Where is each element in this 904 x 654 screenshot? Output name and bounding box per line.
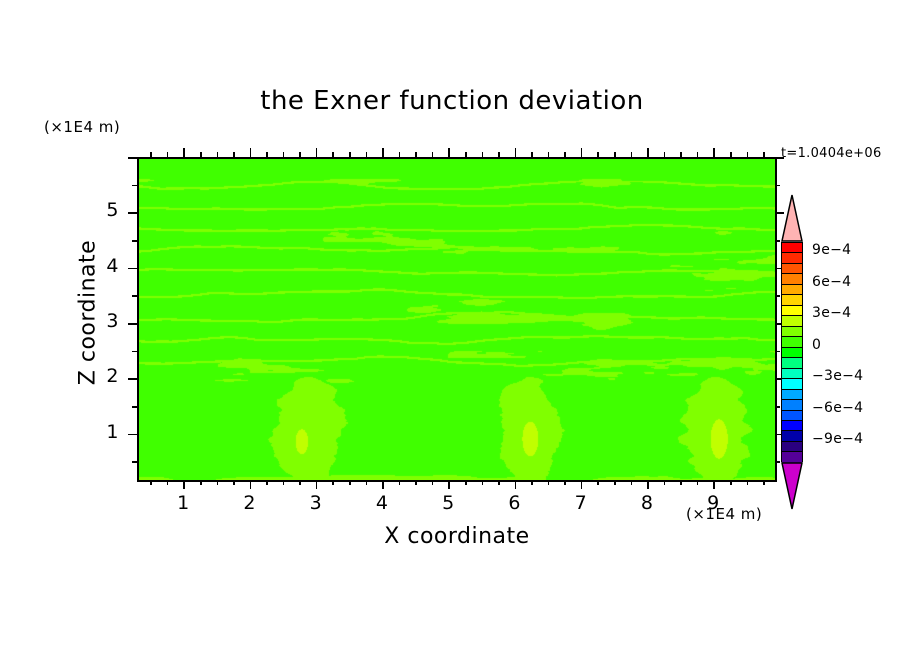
colorbar-tick-label: 3e−4 — [812, 305, 851, 321]
y-minor-tick-right — [775, 240, 780, 242]
x-tick-label: 6 — [495, 492, 535, 514]
y-major-tick — [128, 378, 137, 380]
colorbar-tick-label: 0 — [812, 337, 821, 353]
colorbar-band — [782, 274, 802, 284]
y-tick-label: 1 — [79, 421, 119, 443]
chart-title: the Exner function deviation — [0, 86, 904, 116]
colorbar-band — [782, 411, 802, 421]
x-major-tick-top — [713, 148, 715, 157]
x-minor-tick-top — [747, 152, 749, 157]
x-major-tick-top — [515, 148, 517, 157]
x-minor-tick-top — [432, 152, 434, 157]
y-axis-unit-label: (×1E4 m) — [44, 118, 120, 136]
x-minor-tick — [266, 480, 268, 485]
y-major-tick — [128, 212, 137, 214]
x-minor-tick — [548, 480, 550, 485]
x-major-tick — [316, 480, 318, 489]
x-minor-tick — [664, 480, 666, 485]
y-minor-tick-right — [775, 185, 780, 187]
x-axis-title: X coordinate — [237, 524, 677, 549]
y-minor-tick — [132, 406, 137, 408]
x-minor-tick-top — [200, 152, 202, 157]
colorbar-band — [782, 306, 802, 316]
y-minor-tick-right — [775, 295, 780, 297]
colorbar-band — [782, 264, 802, 274]
x-minor-tick — [200, 480, 202, 485]
x-minor-tick-top — [597, 152, 599, 157]
x-minor-tick — [167, 480, 169, 485]
colorbar-band — [782, 431, 802, 441]
colorbar-band — [782, 337, 802, 347]
contour-plot-area — [137, 157, 777, 482]
x-minor-tick-top — [631, 152, 633, 157]
x-minor-tick-top — [217, 152, 219, 157]
x-major-tick-top — [183, 148, 185, 157]
contour-field — [139, 159, 775, 480]
y-minor-tick-right — [775, 351, 780, 353]
x-minor-tick-top — [167, 152, 169, 157]
x-tick-label: 9 — [693, 492, 733, 514]
x-minor-tick-top — [498, 152, 500, 157]
colorbar-band — [782, 442, 802, 452]
x-minor-tick — [614, 480, 616, 485]
x-minor-tick-top — [664, 152, 666, 157]
x-minor-tick-top — [680, 152, 682, 157]
x-minor-tick-top — [415, 152, 417, 157]
x-minor-tick — [332, 480, 334, 485]
x-major-tick — [647, 480, 649, 489]
x-tick-label: 3 — [296, 492, 336, 514]
x-minor-tick — [283, 480, 285, 485]
x-major-tick-top — [647, 148, 649, 157]
timestamp-annotation: t=1.0404e+06 — [781, 146, 882, 161]
x-major-tick-top — [382, 148, 384, 157]
x-minor-tick-top — [299, 152, 301, 157]
x-tick-label: 4 — [362, 492, 402, 514]
x-tick-label: 8 — [627, 492, 667, 514]
colorbar-band — [782, 243, 802, 253]
x-major-tick — [250, 480, 252, 489]
x-minor-tick — [415, 480, 417, 485]
x-minor-tick — [747, 480, 749, 485]
y-tick-label: 5 — [79, 199, 119, 221]
y-tick-label: 3 — [79, 310, 119, 332]
x-minor-tick-top — [233, 152, 235, 157]
y-tick-label: 2 — [79, 365, 119, 387]
x-tick-label: 7 — [561, 492, 601, 514]
x-minor-tick-top — [730, 152, 732, 157]
x-minor-tick — [631, 480, 633, 485]
colorbar-tick-label: 9e−4 — [812, 242, 851, 258]
colorbar-band — [782, 295, 802, 305]
x-tick-label: 2 — [230, 492, 270, 514]
colorbar-tick-label: 6e−4 — [812, 274, 851, 290]
x-major-tick-top — [581, 148, 583, 157]
x-major-tick — [515, 480, 517, 489]
x-minor-tick-top — [266, 152, 268, 157]
x-minor-tick — [299, 480, 301, 485]
x-major-tick — [382, 480, 384, 489]
x-minor-tick — [763, 480, 765, 485]
x-tick-label: 1 — [163, 492, 203, 514]
x-major-tick — [713, 480, 715, 489]
y-minor-tick — [132, 185, 137, 187]
x-major-tick-top — [448, 148, 450, 157]
x-minor-tick — [349, 480, 351, 485]
x-minor-tick-top — [150, 152, 152, 157]
x-minor-tick-top — [283, 152, 285, 157]
y-major-tick — [128, 157, 137, 159]
colorbar-band — [782, 327, 802, 337]
colorbar-band — [782, 358, 802, 368]
x-minor-tick-top — [366, 152, 368, 157]
colorbar-band — [782, 369, 802, 379]
y-tick-label: 4 — [79, 255, 119, 277]
y-minor-tick — [132, 461, 137, 463]
x-minor-tick — [597, 480, 599, 485]
x-minor-tick — [498, 480, 500, 485]
y-major-tick — [128, 434, 137, 436]
x-minor-tick-top — [531, 152, 533, 157]
y-minor-tick — [132, 351, 137, 353]
colorbar-band — [782, 253, 802, 263]
x-minor-tick-top — [332, 152, 334, 157]
colorbar-tick-label: −6e−4 — [812, 400, 863, 416]
x-minor-tick — [680, 480, 682, 485]
colorbar-band — [782, 421, 802, 431]
x-minor-tick — [531, 480, 533, 485]
y-major-tick — [128, 268, 137, 270]
x-minor-tick-top — [465, 152, 467, 157]
x-minor-tick — [482, 480, 484, 485]
x-minor-tick — [730, 480, 732, 485]
colorbar-tick-label: −3e−4 — [812, 368, 863, 384]
x-minor-tick — [564, 480, 566, 485]
colorbar-band — [782, 348, 802, 358]
x-major-tick — [581, 480, 583, 489]
x-minor-tick-top — [349, 152, 351, 157]
colorbar-tick-label: −9e−4 — [812, 431, 863, 447]
y-major-tick — [128, 323, 137, 325]
colorbar-band — [782, 285, 802, 295]
x-major-tick-top — [316, 148, 318, 157]
colorbar-overflow-bottom — [781, 462, 803, 510]
x-minor-tick — [399, 480, 401, 485]
x-minor-tick — [697, 480, 699, 485]
x-major-tick — [448, 480, 450, 489]
x-minor-tick-top — [614, 152, 616, 157]
x-minor-tick — [150, 480, 152, 485]
colorbar-band — [782, 316, 802, 326]
x-minor-tick — [465, 480, 467, 485]
y-minor-tick-right — [775, 406, 780, 408]
x-tick-label: 5 — [428, 492, 468, 514]
x-major-tick — [183, 480, 185, 489]
x-major-tick-top — [250, 148, 252, 157]
y-minor-tick-right — [775, 461, 780, 463]
x-minor-tick-top — [548, 152, 550, 157]
x-minor-tick-top — [482, 152, 484, 157]
y-major-tick-right — [775, 157, 784, 159]
colorbar — [781, 242, 803, 462]
x-minor-tick — [432, 480, 434, 485]
x-minor-tick-top — [763, 152, 765, 157]
y-minor-tick — [132, 295, 137, 297]
x-minor-tick-top — [564, 152, 566, 157]
x-minor-tick — [217, 480, 219, 485]
x-minor-tick — [366, 480, 368, 485]
colorbar-band — [782, 379, 802, 389]
y-minor-tick — [132, 240, 137, 242]
x-minor-tick-top — [399, 152, 401, 157]
x-minor-tick-top — [697, 152, 699, 157]
colorbar-band — [782, 390, 802, 400]
colorbar-overflow-top — [781, 194, 803, 242]
colorbar-band — [782, 400, 802, 410]
x-minor-tick — [233, 480, 235, 485]
